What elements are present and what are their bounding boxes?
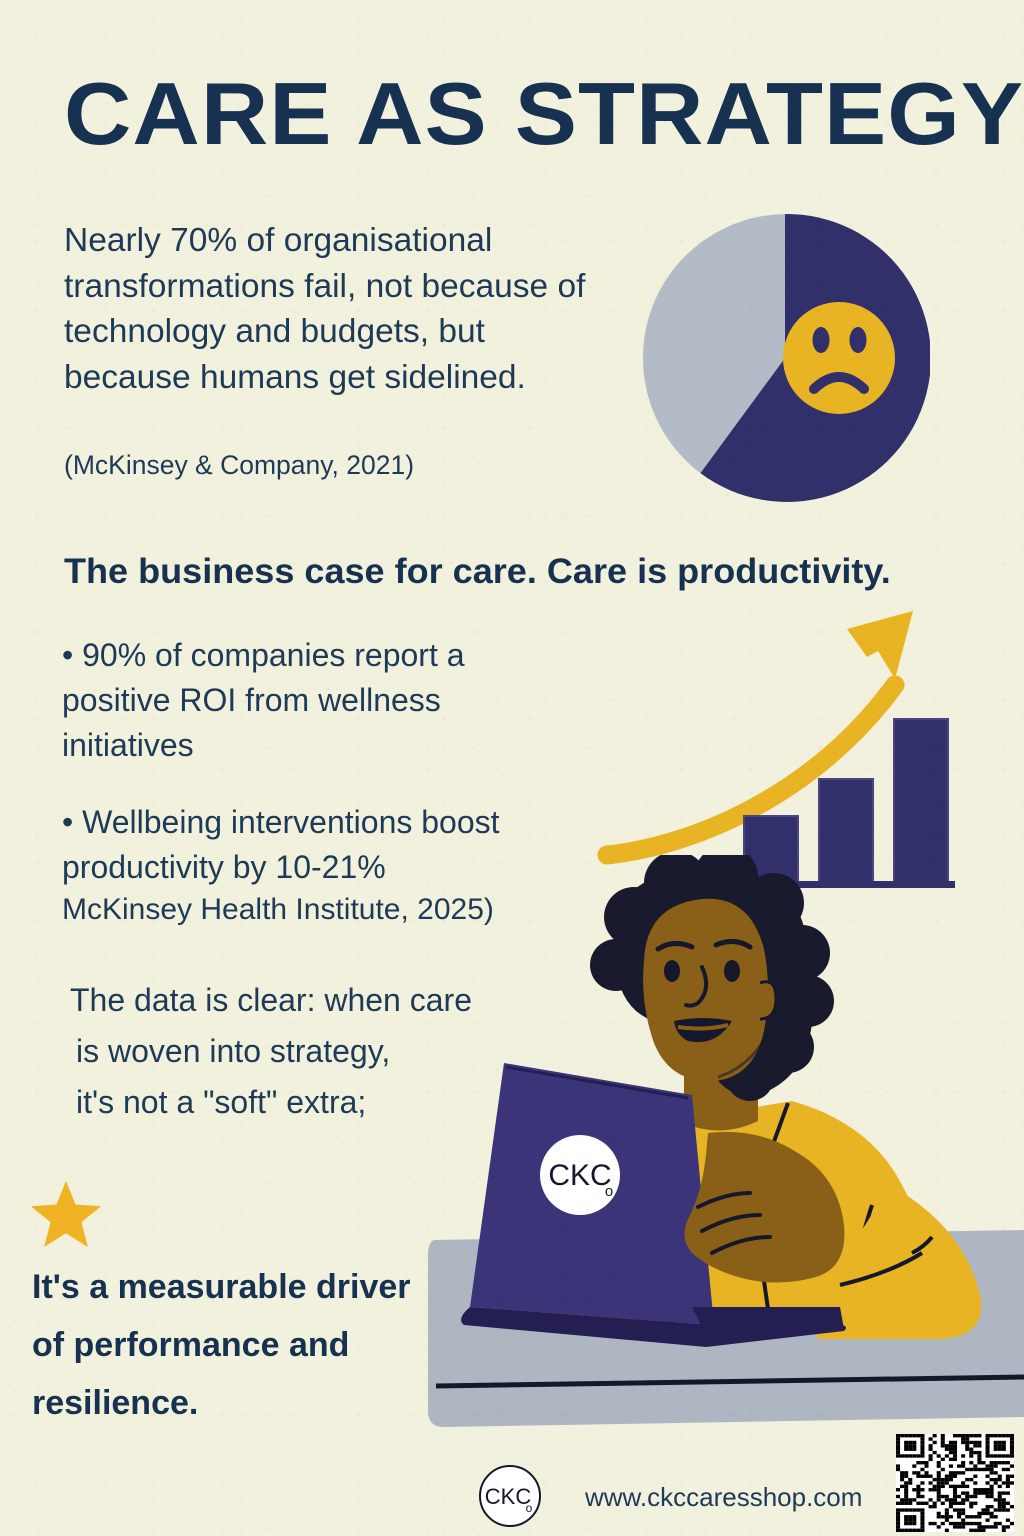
- star-icon: [30, 1178, 102, 1250]
- kicker-line-3: resilience.: [32, 1374, 462, 1432]
- footer-url[interactable]: www.ckccaresshop.com: [585, 1481, 862, 1513]
- svg-text:CKC: CKC: [485, 1484, 532, 1509]
- svg-text:CKC: CKC: [548, 1159, 611, 1192]
- closing-line-3: it's not a "soft" extra;: [70, 1077, 630, 1128]
- svg-text:o: o: [526, 1501, 533, 1515]
- footer-logo: CKC o: [478, 1464, 542, 1528]
- intro-paragraph: Nearly 70% of organisational transformat…: [64, 218, 604, 400]
- kicker-line-2: of performance and: [32, 1316, 462, 1374]
- closing-line-2: is woven into strategy,: [70, 1026, 630, 1077]
- ckc-logo-icon: CKC o: [540, 1135, 620, 1215]
- failure-rate-pie-chart: [640, 213, 930, 503]
- kicker-statement: It's a measurable driver of performance …: [32, 1258, 462, 1432]
- sad-face-icon: [783, 302, 895, 414]
- person-at-laptop-illustration: CKC o: [420, 855, 1024, 1440]
- bullet-item-productivity: • Wellbeing interventions boost producti…: [62, 800, 602, 890]
- page-title: CARE AS STRATEGY: [64, 68, 1024, 160]
- bullet-item-roi: • 90% of companies report a positive ROI…: [62, 633, 562, 768]
- kicker-line-1: It's a measurable driver: [32, 1258, 462, 1316]
- bullet-source-citation: McKinsey Health Institute, 2025): [62, 890, 602, 930]
- closing-line-1: The data is clear: when care: [70, 975, 630, 1026]
- infographic-poster: CARE AS STRATEGY Nearly 70% of organisat…: [0, 0, 1024, 1536]
- productivity-bar-chart: [595, 595, 995, 895]
- svg-text:o: o: [605, 1183, 613, 1200]
- qr-code-icon[interactable]: [896, 1434, 1014, 1532]
- section-heading: The business case for care. Care is prod…: [64, 551, 1012, 593]
- intro-source-citation: (McKinsey & Company, 2021): [64, 448, 604, 482]
- closing-statement: The data is clear: when care is woven in…: [70, 975, 630, 1128]
